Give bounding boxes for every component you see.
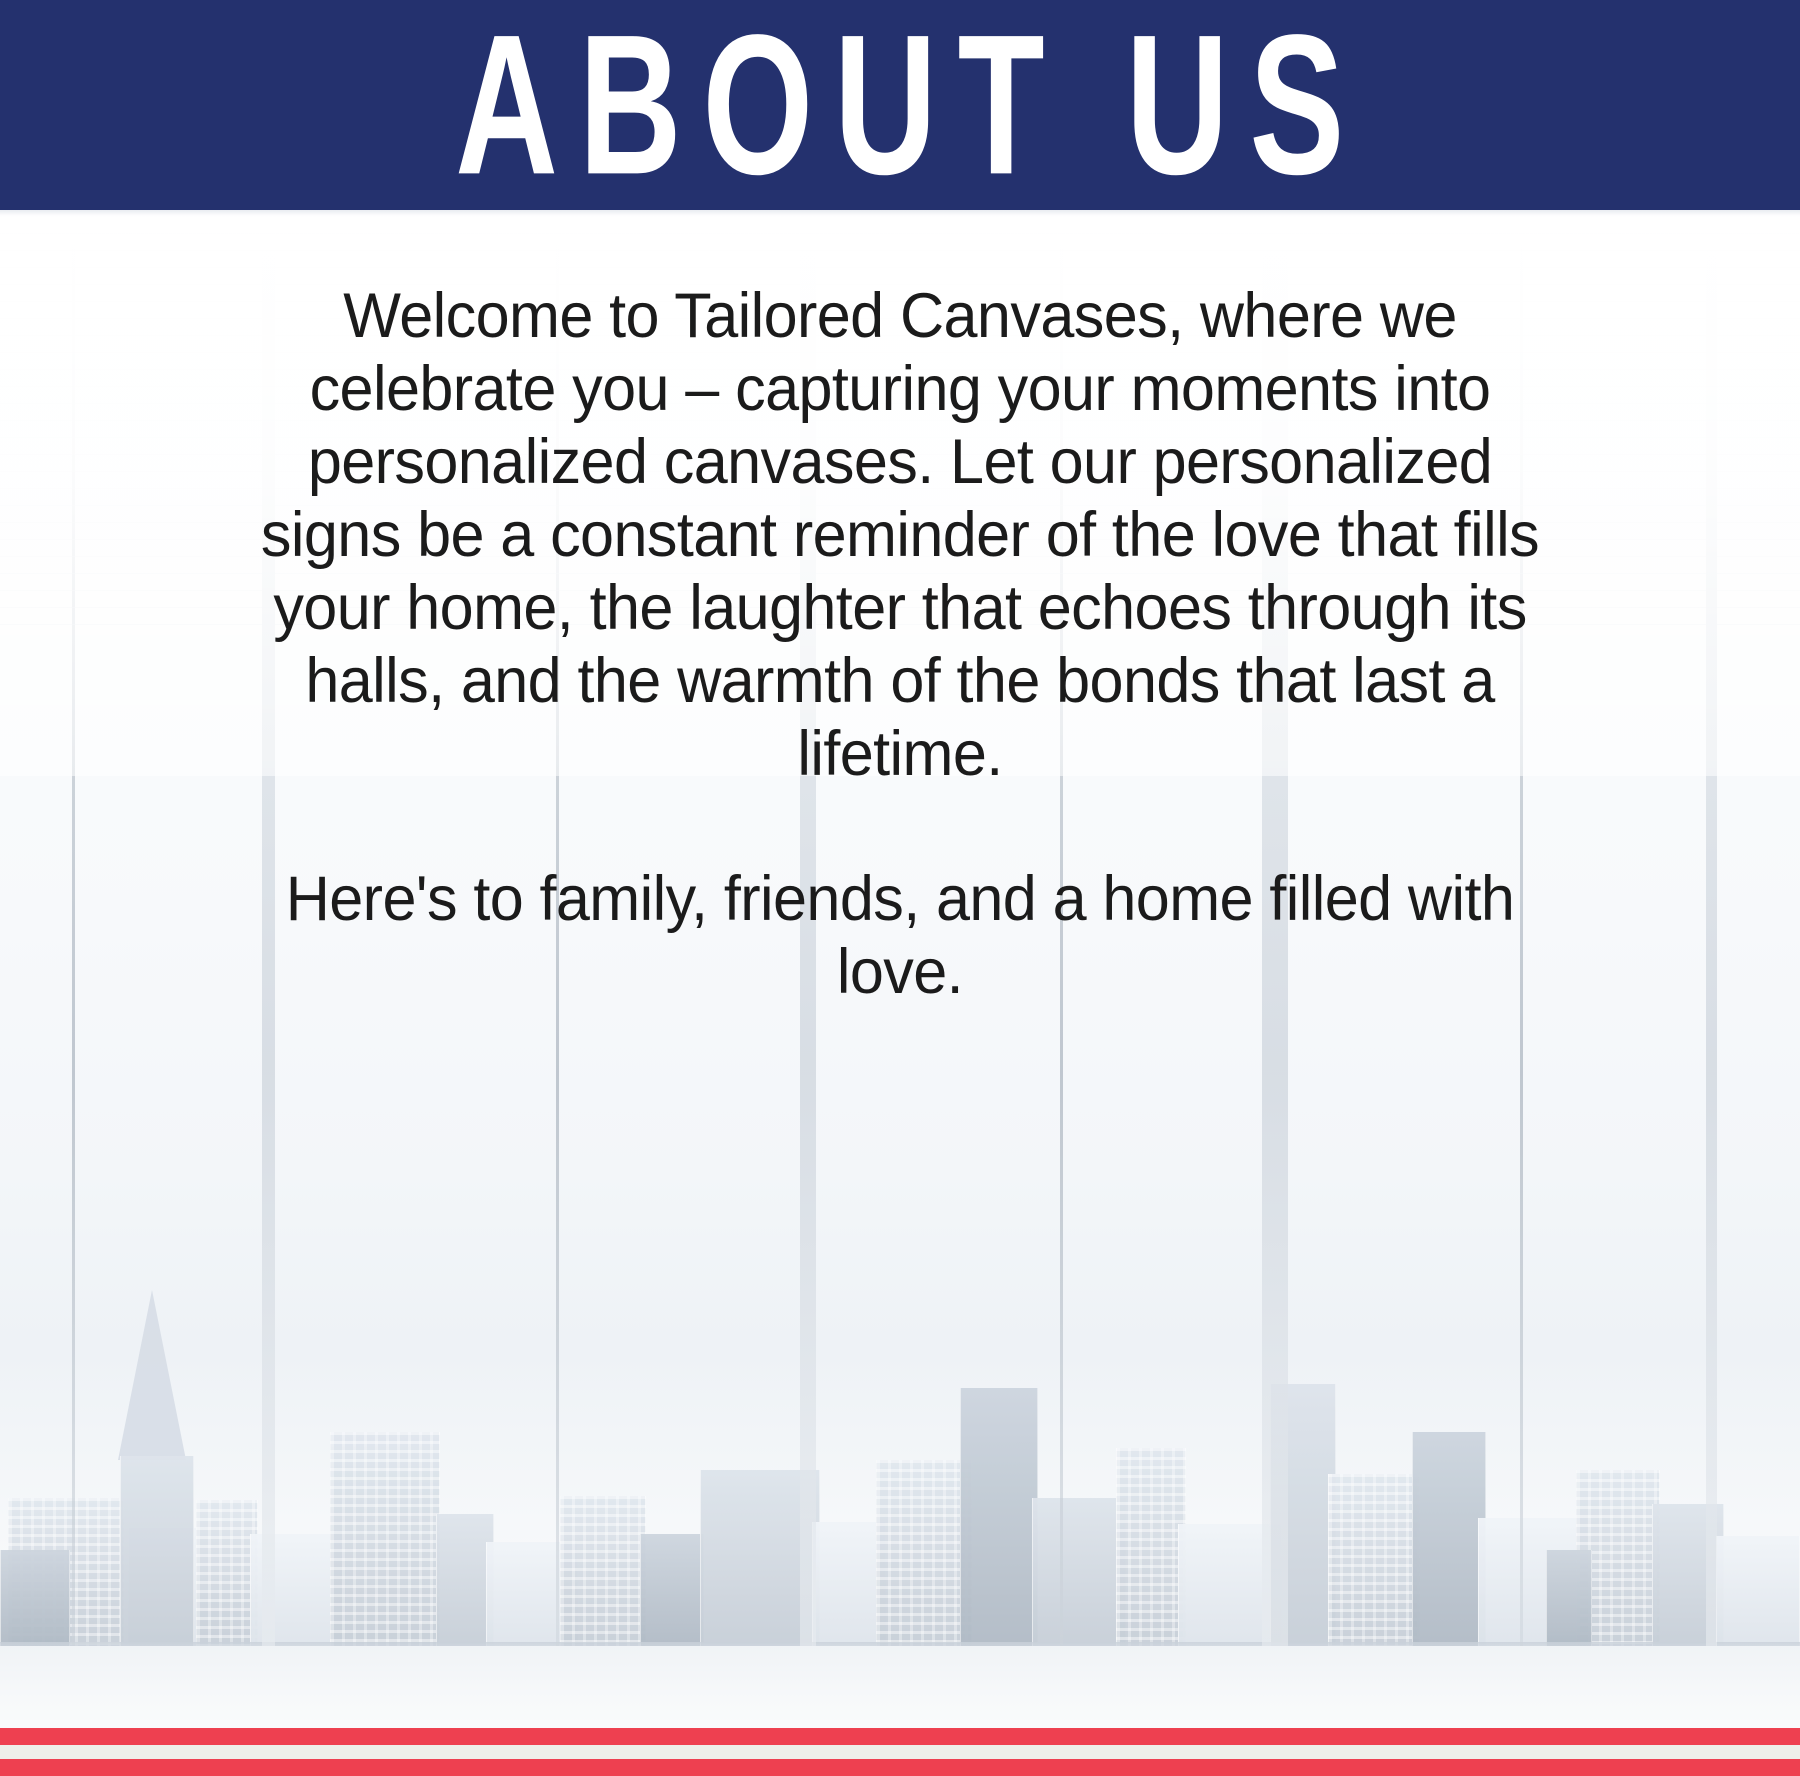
about-paragraph-1: Welcome to Tailored Canvases, where we c…	[231, 280, 1570, 791]
signature-block: Founder of Tailored Canvases	[0, 1130, 1800, 1650]
footer-stripe-top	[0, 1728, 1800, 1745]
footer-stripe-bottom	[0, 1759, 1800, 1776]
about-paragraph-2: Here's to family, friends, and a home fi…	[231, 863, 1570, 1009]
header-underline	[0, 210, 1800, 216]
about-copy: Welcome to Tailored Canvases, where we c…	[210, 280, 1590, 1009]
about-us-card: ABOUT US Welcome to Tailored Canvases, w…	[0, 0, 1800, 1776]
header-band: ABOUT US	[0, 0, 1800, 210]
page-title: ABOUT US	[435, 5, 1366, 204]
footer-stripe-gap	[0, 1745, 1800, 1759]
